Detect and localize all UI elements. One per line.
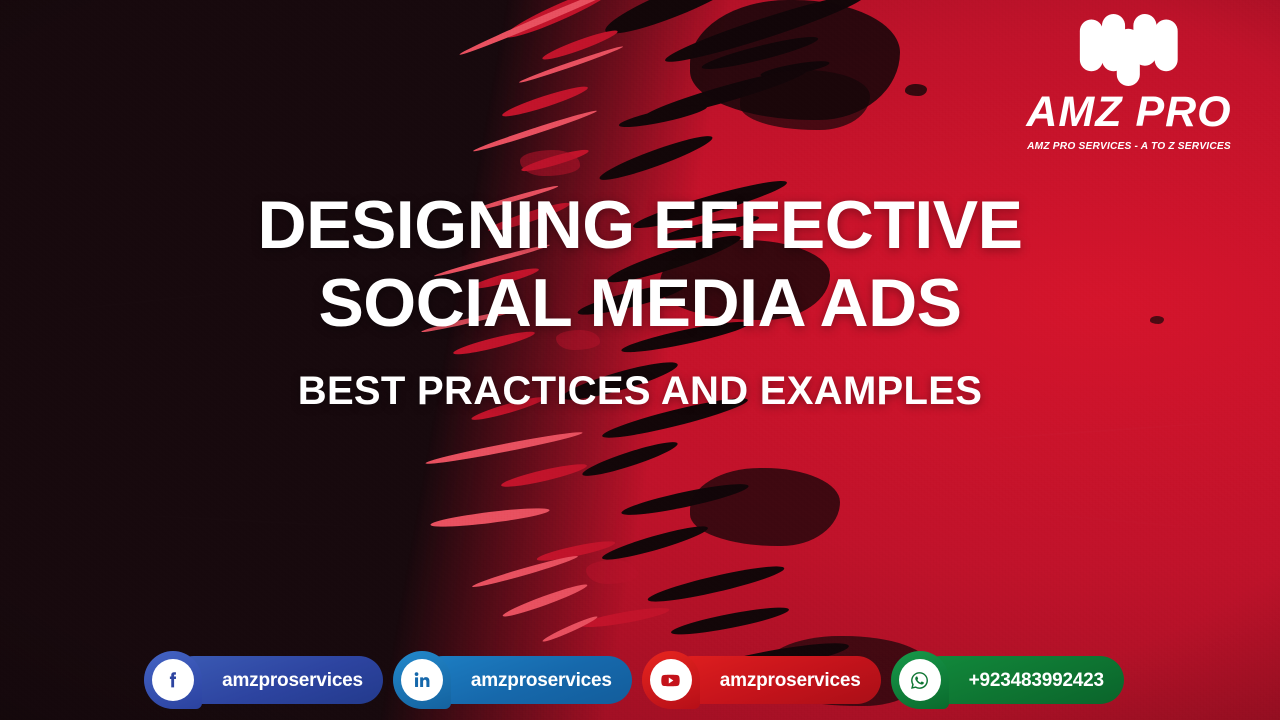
linkedin-icon	[401, 659, 443, 701]
linkedin-handle: amzproservices	[471, 671, 612, 690]
social-chip-youtube[interactable]: amzproservices	[668, 656, 881, 704]
amz-pro-m-monogram-icon	[1078, 14, 1180, 86]
social-links-bar: amzproservices amzproservices	[0, 656, 1280, 704]
facebook-handle: amzproservices	[222, 671, 363, 690]
brand-name: AMZ PRO	[1004, 92, 1254, 133]
whatsapp-badge	[891, 651, 949, 709]
whatsapp-icon	[899, 659, 941, 701]
social-chip-facebook[interactable]: amzproservices	[170, 656, 383, 704]
social-chip-whatsapp[interactable]: +923483992423	[917, 656, 1124, 704]
headline-line-1: DESIGNING EFFECTIVE	[40, 186, 1240, 264]
whatsapp-handle: +923483992423	[969, 671, 1104, 690]
headline-line-2: SOCIAL MEDIA ADS	[40, 264, 1240, 342]
linkedin-badge	[393, 651, 451, 709]
youtube-badge	[642, 651, 700, 709]
facebook-badge	[144, 651, 202, 709]
social-chip-linkedin[interactable]: amzproservices	[419, 656, 632, 704]
brand-tagline: AMZ PRO SERVICES - A TO Z SERVICES	[1008, 140, 1251, 152]
headline-block: DESIGNING EFFECTIVE SOCIAL MEDIA ADS BES…	[0, 186, 1280, 418]
youtube-handle: amzproservices	[720, 671, 861, 690]
social-media-ad-banner: AMZ PRO AMZ PRO SERVICES - A TO Z SERVIC…	[0, 0, 1280, 720]
headline-subtitle: BEST PRACTICES AND EXAMPLES	[40, 364, 1240, 418]
brand-logo: AMZ PRO AMZ PRO SERVICES - A TO Z SERVIC…	[1004, 14, 1254, 152]
youtube-icon	[650, 659, 692, 701]
facebook-icon	[152, 659, 194, 701]
